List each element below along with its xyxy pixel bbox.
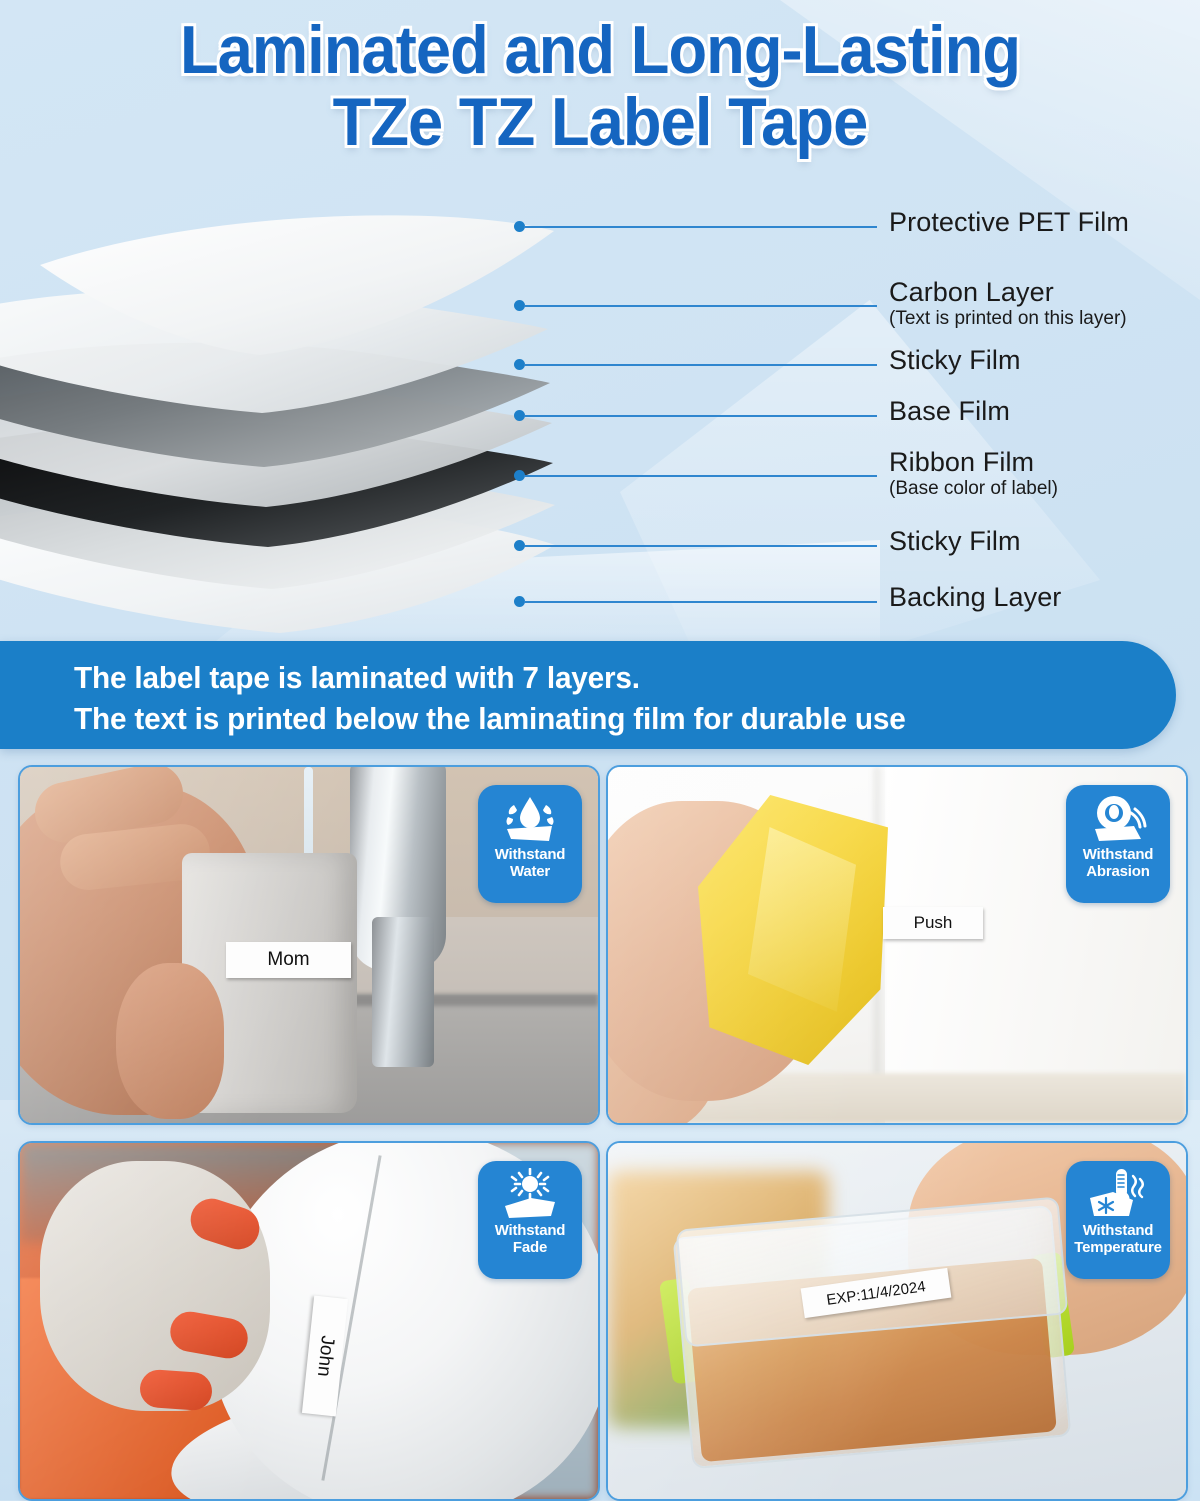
banner-line-2: The text is printed below the laminating…: [74, 698, 906, 739]
water-splash-icon: [478, 785, 582, 847]
page-title: Laminated and Long-Lasting TZe TZ Label …: [0, 14, 1200, 158]
layer-callouts: Protective PET Film Carbon Layer (Text i…: [0, 195, 1200, 635]
callout-sublabel: (Text is printed on this layer): [889, 308, 1127, 330]
badge-label: Withstand Fade: [478, 1223, 582, 1257]
callout-label: Carbon Layer: [889, 277, 1054, 308]
badge-label: Withstand Water: [478, 847, 582, 881]
callout-line: [524, 545, 877, 547]
badge-withstand-temperature: Withstand Temperature: [1066, 1161, 1170, 1279]
callout-label: Backing Layer: [889, 582, 1061, 613]
callout-line: [524, 601, 877, 603]
badge-label: Withstand Temperature: [1066, 1223, 1170, 1257]
tape-roll-icon: [1066, 785, 1170, 847]
callout-label: Base Film: [889, 396, 1010, 427]
tape-label-mom: Mom: [226, 942, 351, 978]
callout-line: [524, 305, 877, 307]
tape-label-push: Push: [883, 907, 983, 939]
badge-withstand-fade: Withstand Fade: [478, 1161, 582, 1279]
laminate-info-banner: The label tape is laminated with 7 layer…: [0, 641, 1176, 749]
banner-line-1: The label tape is laminated with 7 layer…: [74, 657, 906, 698]
callout-line: [524, 364, 877, 366]
feature-card-fade: John: [18, 1141, 600, 1501]
callout-label: Sticky Film: [889, 345, 1021, 376]
callout-label: Sticky Film: [889, 526, 1021, 557]
badge-withstand-water: Withstand Water: [478, 785, 582, 903]
badge-withstand-abrasion: Withstand Abrasion: [1066, 785, 1170, 903]
callout-sublabel: (Base color of label): [889, 478, 1058, 500]
callout-label: Ribbon Film: [889, 447, 1034, 478]
thermometer-snowflake-icon: [1066, 1161, 1170, 1223]
banner-text: The label tape is laminated with 7 layer…: [74, 657, 906, 739]
title-line-2: TZe TZ Label Tape: [42, 86, 1158, 158]
feature-card-temperature: EXP:11/4/2024: [606, 1141, 1188, 1501]
feature-photo-grid: Mom Withstand Water: [18, 765, 1184, 1487]
callout-line: [524, 226, 877, 228]
callout-line: [524, 475, 877, 477]
feature-card-water: Mom Withstand Water: [18, 765, 600, 1125]
badge-label: Withstand Abrasion: [1066, 847, 1170, 881]
feature-card-abrasion: Push Withstand Abrasion: [606, 765, 1188, 1125]
title-line-1: Laminated and Long-Lasting: [42, 14, 1158, 86]
callout-label: Protective PET Film: [889, 207, 1129, 238]
callout-line: [524, 415, 877, 417]
sun-over-label-icon: [478, 1161, 582, 1223]
